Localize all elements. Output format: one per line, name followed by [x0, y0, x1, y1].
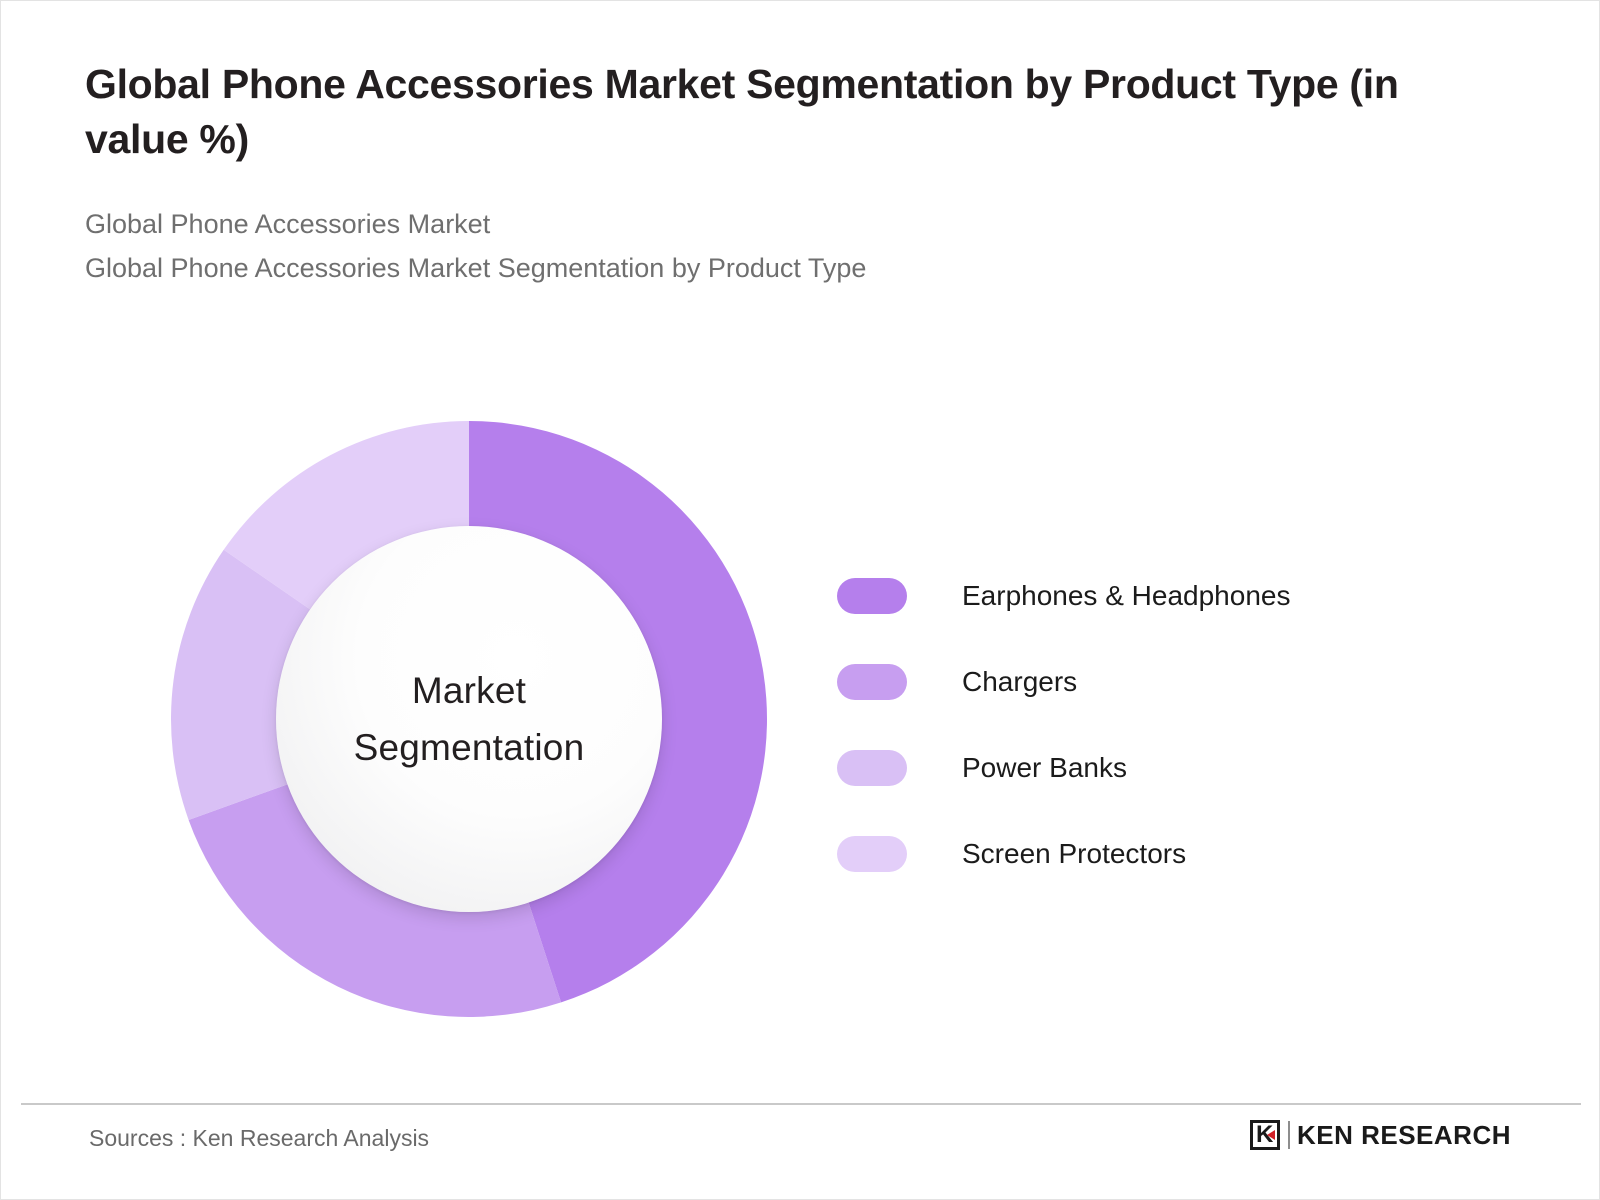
- subtitle-line-1: Global Phone Accessories Market: [85, 203, 1505, 247]
- ken-research-logo: K KEN RESEARCH: [1250, 1118, 1511, 1152]
- donut-chart: Market Segmentation: [171, 421, 767, 1017]
- subtitle-line-2: Global Phone Accessories Market Segmenta…: [85, 247, 1505, 291]
- logo-k-mark-icon: K: [1250, 1120, 1280, 1150]
- legend-item[interactable]: Earphones & Headphones: [837, 553, 1477, 639]
- logo-wordmark: KEN RESEARCH: [1297, 1120, 1511, 1151]
- center-label-line-1: Market: [412, 662, 526, 719]
- legend-swatch-icon: [837, 664, 907, 700]
- logo-triangle-icon: [1267, 1130, 1275, 1140]
- legend-label: Earphones & Headphones: [962, 580, 1290, 612]
- donut-center-disc: Market Segmentation: [276, 526, 662, 912]
- footer-divider: [21, 1103, 1581, 1105]
- legend-label: Chargers: [962, 666, 1077, 698]
- subtitle: Global Phone Accessories Market Global P…: [85, 203, 1505, 290]
- chart-legend: Earphones & HeadphonesChargersPower Bank…: [837, 553, 1477, 897]
- legend-item[interactable]: Screen Protectors: [837, 811, 1477, 897]
- source-note: Sources : Ken Research Analysis: [89, 1125, 429, 1152]
- center-label-line-2: Segmentation: [354, 719, 585, 776]
- header: Global Phone Accessories Market Segmenta…: [85, 57, 1505, 290]
- legend-swatch-icon: [837, 836, 907, 872]
- legend-swatch-icon: [837, 750, 907, 786]
- legend-swatch-icon: [837, 578, 907, 614]
- legend-item[interactable]: Power Banks: [837, 725, 1477, 811]
- legend-item[interactable]: Chargers: [837, 639, 1477, 725]
- logo-divider: [1288, 1121, 1290, 1149]
- page-title: Global Phone Accessories Market Segmenta…: [85, 57, 1485, 167]
- legend-label: Screen Protectors: [962, 838, 1186, 870]
- slide-canvas: Global Phone Accessories Market Segmenta…: [0, 0, 1600, 1200]
- legend-label: Power Banks: [962, 752, 1127, 784]
- chart-area: Market Segmentation Earphones & Headphon…: [1, 371, 1600, 1061]
